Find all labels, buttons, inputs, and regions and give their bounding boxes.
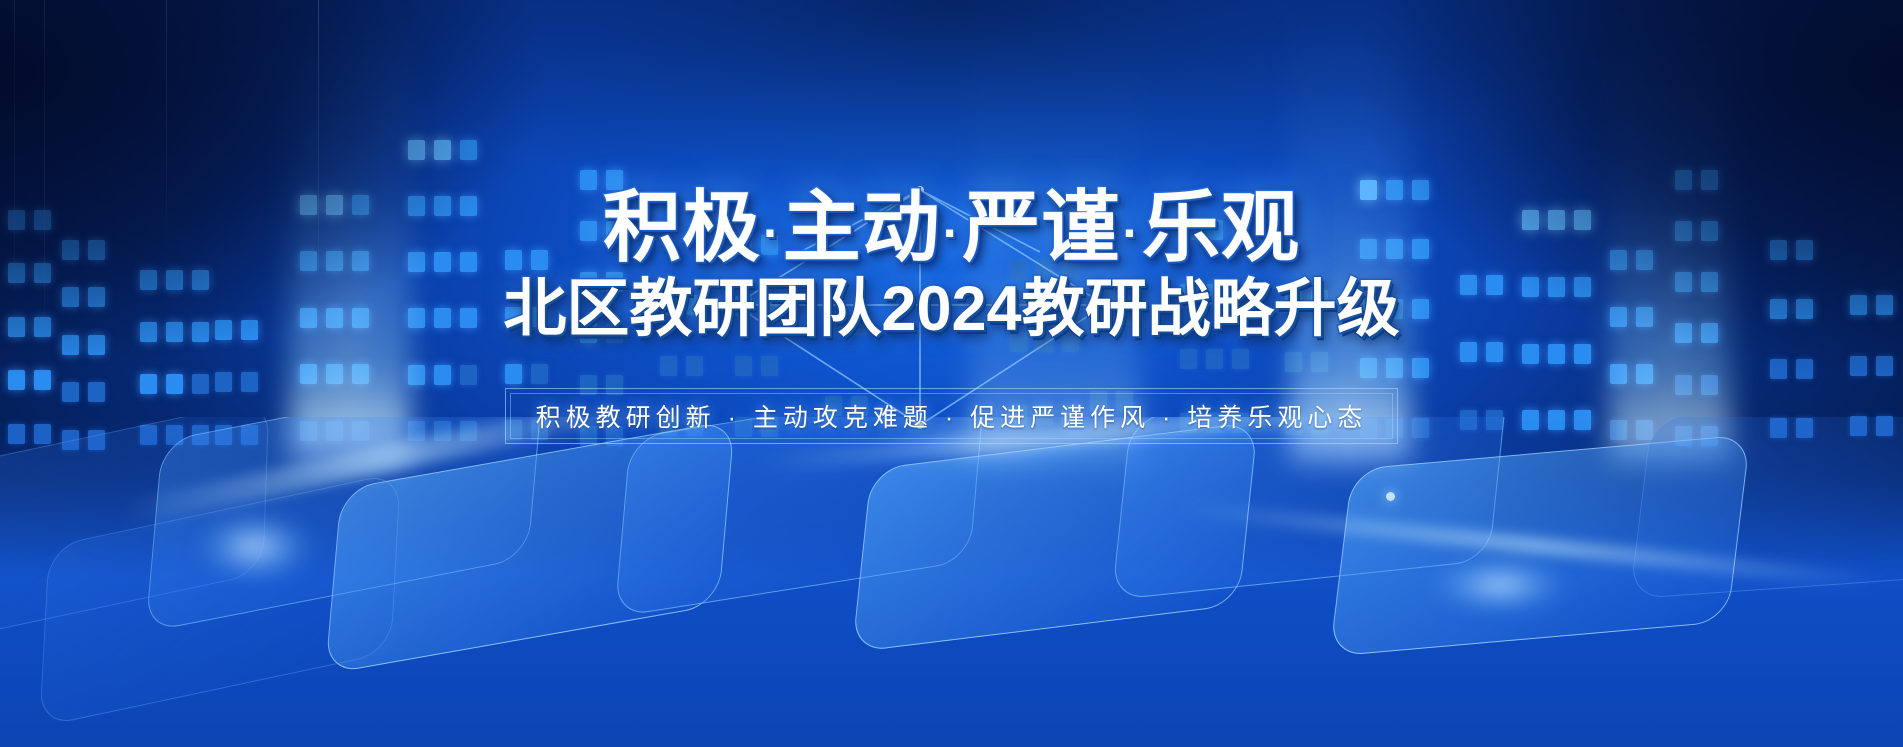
banner-tagline: 积极教研创新 · 主动攻克难题 · 促进严谨作风 · 培养乐观心态 [536,398,1368,434]
headline-word-3: 严谨 [962,183,1120,271]
headline-word-4: 乐观 [1142,183,1300,271]
banner-subheadline: 北区教研团队2024教研战略升级 [503,276,1399,342]
tagline-frame: 积极教研创新 · 主动攻克难题 · 促进严谨作风 · 培养乐观心态 [505,388,1399,444]
headline-separator: · [943,205,961,261]
headline-separator: · [763,205,781,261]
headline-word-1: 积极 [603,183,761,271]
banner-text-block: 积极·主动·严谨·乐观 北区教研团队2024教研战略升级 积极教研创新 · 主动… [0,0,1903,747]
promo-banner: 积极·主动·严谨·乐观 北区教研团队2024教研战略升级 积极教研创新 · 主动… [0,0,1903,747]
banner-headline: 积极·主动·严谨·乐观 [603,188,1300,268]
headline-word-2: 主动 [783,183,941,271]
headline-separator: · [1122,205,1140,261]
accent-dot [1386,492,1395,501]
